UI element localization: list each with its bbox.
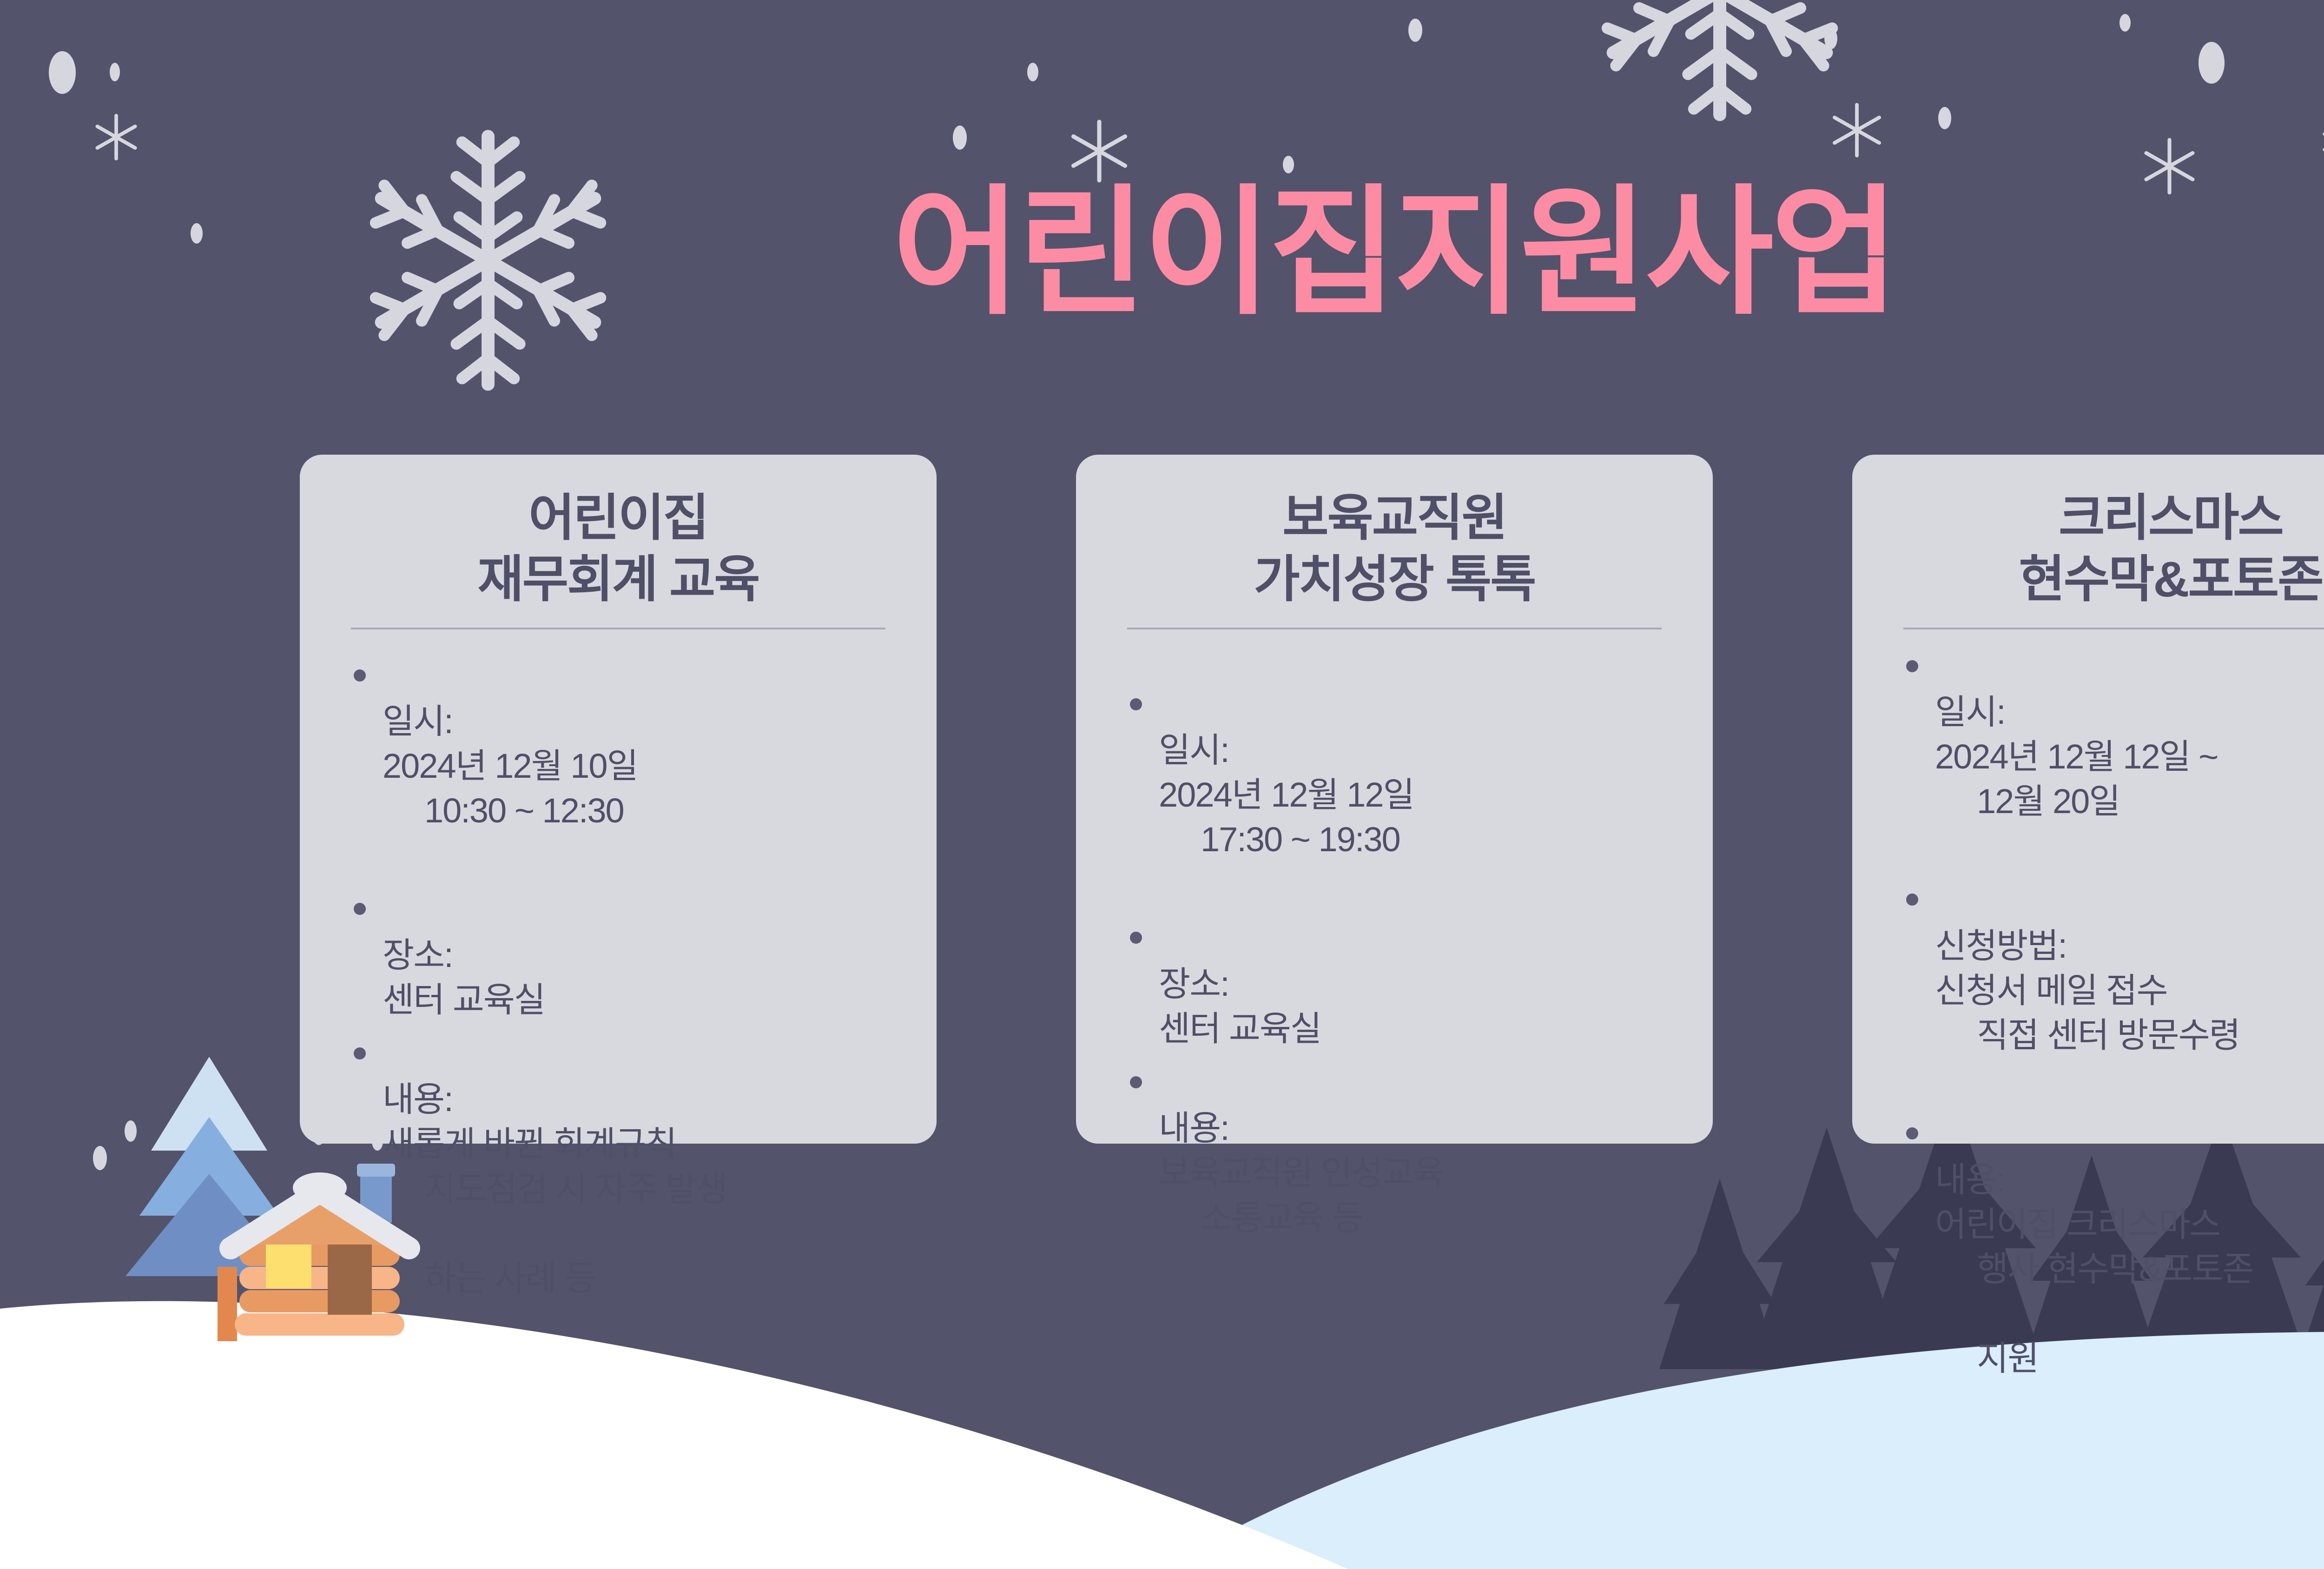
card-divider xyxy=(1903,628,2324,629)
list-item: 내용: 어린이집 크리스마스 행사 현수막&포토존 지원 xyxy=(1899,1112,2324,1425)
bullet-value: 보육교직원 인성교육 xyxy=(1159,1153,1444,1192)
bullet-label: 일시: xyxy=(383,702,453,741)
bullet-cont: 지원 xyxy=(1935,1336,2324,1381)
card-financial-education[interactable]: 어린이집 재무회계 교육 일시: 2024년 12월 10일 10:30 ~ 1… xyxy=(300,455,937,1144)
bullet-value: 어린이집 크리스마스 xyxy=(1935,1205,2220,1244)
bullet-cont: 행사 현수막&포토존 xyxy=(1935,1247,2324,1291)
list-item: 내용: 보육교직원 인성교육 소통교육 등 xyxy=(1122,1061,1685,1285)
card-title: 보육교직원 가치성장 톡톡 xyxy=(1254,487,1535,610)
snowflake-top-center-icon xyxy=(1576,0,1864,135)
bullet-label: 내용: xyxy=(1935,1160,2005,1199)
bullet-label: 일시: xyxy=(1159,731,1229,769)
bullet-value: 2024년 12월 10일 xyxy=(383,747,638,785)
list-item: 장소: 센터 교육실 xyxy=(1122,917,1685,1051)
bullet-value: 센터 교육실 xyxy=(1159,1009,1321,1048)
snow-dot xyxy=(1027,63,1038,81)
list-item: 일시: 2024년 12월 10일 10:30 ~ 12:30 xyxy=(346,655,909,878)
list-item: 신청방법: 신청서 메일 접수 직접 센터 방문수령 xyxy=(1899,879,2324,1102)
bullet-label: 장소: xyxy=(383,936,453,974)
card-christmas-banner-photozone[interactable]: 크리스마스 현수막&포토존 일시: 2024년 12월 12일 ~ 12월 20… xyxy=(1852,455,2324,1144)
bullet-label: 장소: xyxy=(1159,965,1229,1003)
snow-dot xyxy=(1938,107,1951,129)
list-item: 일시: 2024년 12월 12일 ~ 12월 20일 xyxy=(1899,645,2324,869)
card-row: 어린이집 재무회계 교육 일시: 2024년 12월 10일 10:30 ~ 1… xyxy=(0,455,2324,1152)
bullet-cont: 직접 센터 방문수령 xyxy=(1935,1013,2324,1058)
snow-dot xyxy=(110,63,120,81)
bullet-cont: 12월 20일 xyxy=(1935,779,2324,824)
snow-dot xyxy=(2119,14,2131,32)
bullet-value: 2024년 12월 12일 xyxy=(1159,775,1414,814)
bullet-cont: 하는 사례 등 xyxy=(383,1256,909,1301)
bullet-value: 2024년 12월 12일 ~ xyxy=(1935,737,2218,776)
card-divider xyxy=(1127,628,1662,629)
snow-dot xyxy=(49,51,76,94)
bullet-label: 내용: xyxy=(1159,1109,1229,1147)
list-item: 장소: 센터 교육실 xyxy=(346,888,909,1022)
bullet-label: 내용: xyxy=(383,1080,453,1119)
bullet-cont: 10:30 ~ 12:30 xyxy=(383,788,909,833)
poster-root: 어린이집지원사업 어린이집 재무회계 교육 일시: 2024년 12월 10일 … xyxy=(0,0,2324,1569)
bullet-label: 신청방법: xyxy=(1935,927,2067,965)
bullet-cont: 소통교육 등 xyxy=(1159,1196,1685,1240)
bullet-cont: 17:30 ~ 19:30 xyxy=(1159,817,1685,862)
card-bullet-list: 일시: 2024년 12월 12일 ~ 12월 20일 신청방법: 신청서 메일… xyxy=(1880,645,2324,1436)
snow-dot xyxy=(2199,42,2225,84)
page-title: 어린이집지원사업 xyxy=(0,139,2324,341)
list-item: 일시: 2024년 12월 12일 17:30 ~ 19:30 xyxy=(1122,683,1685,907)
bullet-cont: 지도점검 시 자주 발생 xyxy=(383,1167,909,1212)
card-bullet-list: 일시: 2024년 12월 12일 17:30 ~ 19:30 장소: 센터 교… xyxy=(1104,645,1685,1295)
list-item: 내용: 새롭게 바뀐 회계규칙 지도점검 시 자주 발생 하는 사례 등 xyxy=(346,1033,909,1345)
bullet-value: 신청서 메일 접수 xyxy=(1935,971,2167,1010)
card-title: 크리스마스 현수막&포토존 xyxy=(2019,487,2322,610)
card-divider xyxy=(351,628,885,629)
bullet-value: 센터 교육실 xyxy=(383,980,545,1019)
card-title: 어린이집 재무회계 교육 xyxy=(477,487,759,610)
bullet-label: 일시: xyxy=(1935,693,2005,731)
card-bullet-list: 일시: 2024년 12월 10일 10:30 ~ 12:30 장소: 센터 교… xyxy=(328,645,909,1356)
snow-dot xyxy=(1408,19,1422,42)
card-teacher-growth-talk[interactable]: 보육교직원 가치성장 톡톡 일시: 2024년 12월 12일 17:30 ~ … xyxy=(1076,455,1713,1144)
bullet-value: 새롭게 바뀐 회계규칙 xyxy=(383,1125,676,1163)
